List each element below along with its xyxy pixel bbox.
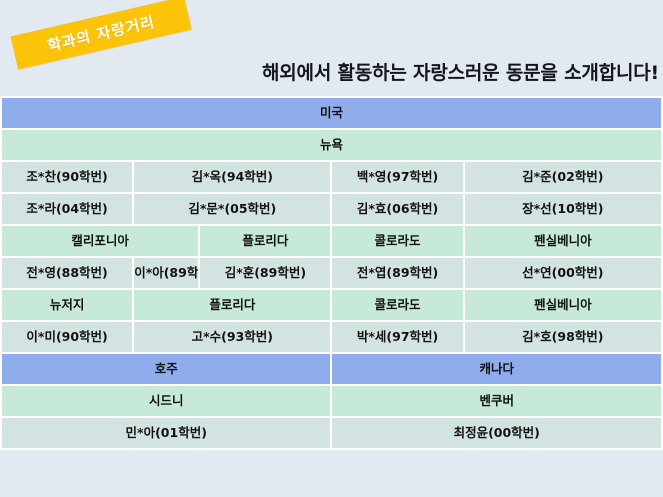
table-body: 미국뉴욕조*찬(90학번)김*옥(94학번)백*영(97학번)김*준(02학번)…	[2, 98, 661, 448]
alumni-name-cell: 이*미(90학번)	[2, 322, 132, 352]
alumni-name-cell: 박*세(97학번)	[332, 322, 462, 352]
region-header-cell: 콜로라도	[332, 226, 462, 256]
overseas-alumni-table: 미국뉴욕조*찬(90학번)김*옥(94학번)백*영(97학번)김*준(02학번)…	[0, 96, 663, 450]
alumni-name-cell: 김*옥(94학번)	[134, 162, 330, 192]
table-row: 뉴욕	[2, 130, 661, 160]
table-row: 캘리포니아플로리다콜로라도펜실베니아	[2, 226, 661, 256]
table-row: 조*라(04학번)김*문*(05학번)김*효(06학번)장*선(10학번)	[2, 194, 661, 224]
alumni-name-cell: 선*연(00학번)	[465, 258, 661, 288]
page-title: 해외에서 활동하는 자랑스러운 동문을 소개합니다!	[262, 58, 659, 85]
table-row: 조*찬(90학번)김*옥(94학번)백*영(97학번)김*준(02학번)	[2, 162, 661, 192]
region-header-cell: 뉴욕	[2, 130, 661, 160]
alumni-name-cell: 고*수(93학번)	[134, 322, 330, 352]
table-row: 민*아(01학번)최정윤(00학번)	[2, 418, 661, 448]
page-header: 학과의 자랑거리 해외에서 활동하는 자랑스러운 동문을 소개합니다!	[0, 0, 663, 96]
section-ribbon-badge: 학과의 자랑거리	[10, 0, 191, 70]
alumni-name-cell: 김*효(06학번)	[332, 194, 462, 224]
region-header-cell: 캘리포니아	[2, 226, 198, 256]
alumni-name-cell: 전*엽(89학번)	[332, 258, 462, 288]
region-header-cell: 콜로라도	[332, 290, 462, 320]
table-row: 뉴저지플로리다콜로라도펜실베니아	[2, 290, 661, 320]
table-row: 이*미(90학번)고*수(93학번)박*세(97학번)김*호(98학번)	[2, 322, 661, 352]
alumni-name-cell: 민*아(01학번)	[2, 418, 330, 448]
table-row: 호주캐나다	[2, 354, 661, 384]
region-header-cell: 벤쿠버	[332, 386, 661, 416]
region-header-cell: 뉴저지	[2, 290, 132, 320]
table-row: 미국	[2, 98, 661, 128]
table-row: 전*영(88학번)이*아(89학번)김*훈(89학번)전*엽(89학번)선*연(…	[2, 258, 661, 288]
country-header-cell: 캐나다	[332, 354, 661, 384]
alumni-name-cell: 전*영(88학번)	[2, 258, 132, 288]
alumni-name-cell: 김*문*(05학번)	[134, 194, 330, 224]
region-header-cell: 펜실베니아	[465, 226, 661, 256]
alumni-name-cell: 조*라(04학번)	[2, 194, 132, 224]
region-header-cell: 시드니	[2, 386, 330, 416]
alumni-name-cell: 이*아(89학번)	[134, 258, 198, 288]
alumni-name-cell: 조*찬(90학번)	[2, 162, 132, 192]
alumni-name-cell: 장*선(10학번)	[465, 194, 661, 224]
ribbon-label: 학과의 자랑거리	[45, 10, 157, 55]
country-header-cell: 호주	[2, 354, 330, 384]
alumni-name-cell: 김*준(02학번)	[465, 162, 661, 192]
country-header-cell: 미국	[2, 98, 661, 128]
alumni-name-cell: 최정윤(00학번)	[332, 418, 661, 448]
region-header-cell: 펜실베니아	[465, 290, 661, 320]
alumni-name-cell: 백*영(97학번)	[332, 162, 462, 192]
alumni-name-cell: 김*훈(89학번)	[200, 258, 330, 288]
region-header-cell: 플로리다	[134, 290, 330, 320]
alumni-name-cell: 김*호(98학번)	[465, 322, 661, 352]
region-header-cell: 플로리다	[200, 226, 330, 256]
table-row: 시드니벤쿠버	[2, 386, 661, 416]
